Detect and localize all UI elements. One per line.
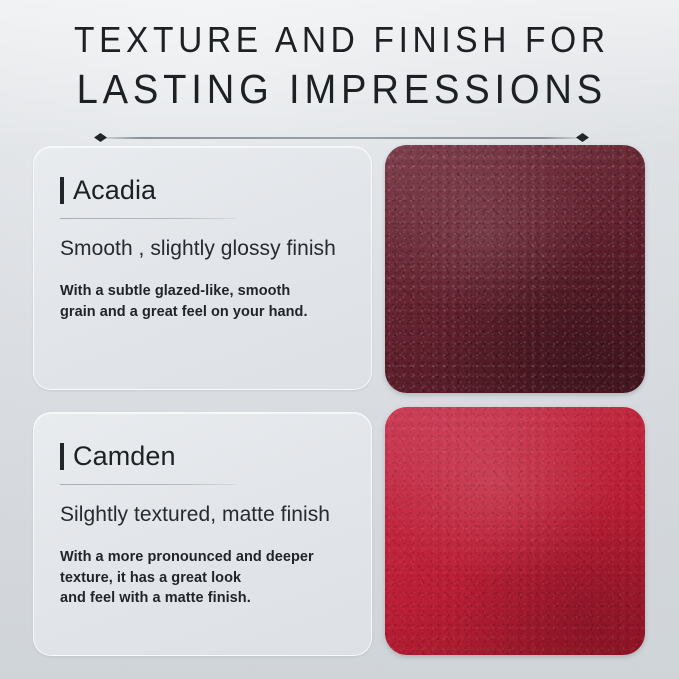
- diamond-icon: [94, 133, 107, 142]
- card-description-line: With a subtle glazed-like, smooth: [60, 281, 345, 302]
- card-rule: [60, 218, 236, 219]
- card-description-line: and feel with a matte finish.: [60, 588, 345, 609]
- card-content: Acadia Smooth , slightly glossy finish W…: [34, 147, 371, 322]
- card-description: With a more pronounced and deeper textur…: [60, 547, 345, 609]
- camden-swatch: [385, 407, 645, 655]
- card-title-row: Camden: [60, 443, 345, 470]
- accent-bar-icon: [60, 443, 64, 470]
- card-title: Camden: [73, 443, 176, 470]
- card-title-row: Acadia: [60, 177, 345, 204]
- card-description-line: texture, it has a great look: [60, 568, 345, 589]
- infographic-page: TEXTURE AND FINISH FOR LASTING IMPRESSIO…: [0, 0, 679, 679]
- card-description-line: grain and a great feel on your hand.: [60, 302, 345, 323]
- accent-bar-icon: [60, 177, 64, 204]
- page-title-line-2: LASTING IMPRESSIONS: [24, 69, 655, 110]
- acadia-swatch: [385, 145, 645, 393]
- page-title: TEXTURE AND FINISH FOR LASTING IMPRESSIO…: [0, 22, 679, 110]
- card-title: Acadia: [73, 177, 156, 204]
- card-description-line: With a more pronounced and deeper: [60, 547, 345, 568]
- material-card-acadia: Acadia Smooth , slightly glossy finish W…: [33, 146, 372, 390]
- card-description: With a subtle glazed-like, smooth grain …: [60, 281, 345, 322]
- swatch-sheen: [385, 145, 645, 393]
- card-subtitle: Silghtly textured, matte finish: [60, 503, 345, 527]
- card-content: Camden Silghtly textured, matte finish W…: [34, 413, 371, 609]
- card-rule: [60, 484, 236, 485]
- heading-divider: [101, 137, 582, 139]
- card-subtitle: Smooth , slightly glossy finish: [60, 237, 345, 261]
- material-card-camden: Camden Silghtly textured, matte finish W…: [33, 412, 372, 656]
- diamond-icon: [576, 133, 589, 142]
- page-title-line-1: TEXTURE AND FINISH FOR: [24, 22, 655, 58]
- swatch-sheen: [385, 407, 645, 655]
